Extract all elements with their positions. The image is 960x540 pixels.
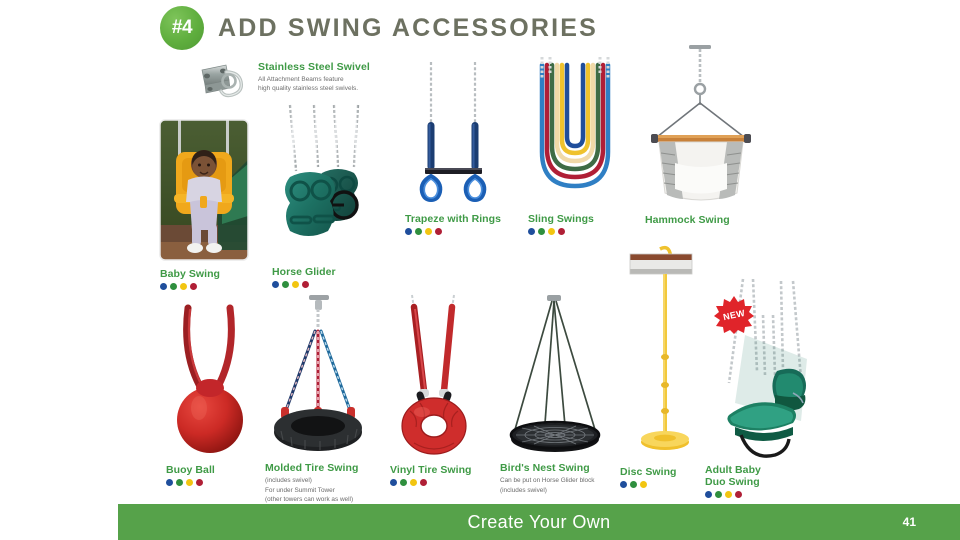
color-dot-yellow	[725, 491, 732, 498]
swivel-subtitle-line-2: high quality stainless steel swivels.	[258, 84, 370, 93]
product-label: Molded Tire Swing	[265, 462, 385, 474]
product-label: Hammock Swing	[645, 214, 760, 226]
color-dot-blue	[405, 228, 412, 235]
product-sling-swings[interactable]: Sling Swings	[528, 57, 633, 235]
birds-nest-swing-art	[500, 295, 620, 458]
product-baby-swing[interactable]: Baby Swing	[160, 120, 260, 290]
color-dot-blue	[160, 283, 167, 290]
color-dot-blue	[390, 479, 397, 486]
color-dot-yellow	[425, 228, 432, 235]
color-dots	[405, 228, 510, 235]
product-molded-tire-swing[interactable]: Molded Tire Swing (includes swivel) For …	[265, 295, 385, 505]
color-dot-red	[735, 491, 742, 498]
product-label: Baby Swing	[160, 268, 260, 280]
product-label: Buoy Ball	[166, 464, 266, 476]
product-trapeze-with-rings[interactable]: Trapeze with Rings	[405, 62, 510, 235]
product-birds-nest-swing[interactable]: Bird's Nest Swing Can be put on Horse Gl…	[500, 295, 620, 495]
product-label: Horse Glider	[272, 266, 382, 278]
color-dot-yellow	[180, 283, 187, 290]
color-dot-green	[282, 281, 289, 288]
product-label: Sling Swings	[528, 213, 633, 225]
color-dot-red	[190, 283, 197, 290]
color-dots	[272, 281, 382, 288]
color-dot-green	[176, 479, 183, 486]
trapeze-with-rings-art	[405, 62, 510, 207]
footer-title: Create Your Own	[467, 512, 610, 533]
step-number-badge: #4	[160, 6, 204, 50]
swivel-title: Stainless Steel Swivel	[258, 61, 370, 73]
product-label: Vinyl Tire Swing	[390, 464, 500, 476]
swivel-subtitle-line-1: All Attachment Beams feature	[258, 75, 370, 84]
color-dots	[390, 479, 500, 486]
color-dot-blue	[528, 228, 535, 235]
product-sublabel: (includes swivel) For under Summit Tower…	[265, 476, 385, 505]
color-dot-red	[435, 228, 442, 235]
buoy-ball-art	[166, 300, 266, 458]
product-label: Bird's Nest Swing	[500, 462, 620, 474]
color-dot-red	[420, 479, 427, 486]
product-vinyl-tire-swing[interactable]: Vinyl Tire Swing	[390, 295, 500, 486]
color-dot-red	[196, 479, 203, 486]
color-dot-green	[400, 479, 407, 486]
product-label: Disc Swing	[620, 466, 715, 478]
swivel-hardware-icon	[196, 58, 250, 102]
color-dot-red	[558, 228, 565, 235]
baby-swing-photo	[160, 120, 260, 260]
horse-glider-art	[272, 105, 382, 260]
hammock-swing-art	[645, 45, 760, 208]
color-dots	[166, 479, 266, 486]
color-dots	[705, 491, 825, 498]
page-number: 41	[903, 515, 916, 529]
color-dot-blue	[272, 281, 279, 288]
color-dot-blue	[620, 481, 627, 488]
page-header: #4 ADD SWING ACCESSORIES	[160, 6, 598, 50]
new-badge: NEW	[713, 295, 755, 335]
product-label: Adult Baby Duo Swing	[705, 464, 825, 488]
color-dot-blue	[166, 479, 173, 486]
product-sublabel: Can be put on Horse Glider block (includ…	[500, 476, 620, 495]
color-dot-green	[538, 228, 545, 235]
product-hammock-swing[interactable]: Hammock Swing	[645, 45, 760, 226]
color-dot-yellow	[410, 479, 417, 486]
product-horse-glider[interactable]: Horse Glider	[272, 105, 382, 288]
disc-swing-art	[620, 245, 715, 460]
color-dot-green	[170, 283, 177, 290]
molded-tire-swing-art	[265, 295, 385, 458]
color-dot-yellow	[292, 281, 299, 288]
color-dot-yellow	[548, 228, 555, 235]
color-dot-yellow	[640, 481, 647, 488]
color-dot-green	[630, 481, 637, 488]
color-dot-blue	[705, 491, 712, 498]
color-dots	[528, 228, 633, 235]
page-title: ADD SWING ACCESSORIES	[218, 14, 598, 43]
product-buoy-ball[interactable]: Buoy Ball	[166, 300, 266, 486]
adult-baby-duo-swing-art: NEW	[705, 275, 825, 460]
color-dots	[620, 481, 715, 488]
color-dot-green	[715, 491, 722, 498]
sling-swings-art	[528, 57, 633, 207]
product-label: Trapeze with Rings	[405, 213, 510, 225]
color-dots	[160, 283, 260, 290]
product-adult-baby-duo-swing[interactable]: NEW Adult Baby Duo Swing	[705, 275, 825, 498]
color-dot-red	[302, 281, 309, 288]
color-dot-yellow	[186, 479, 193, 486]
catalog-page: #4 ADD SWING ACCESSORIES	[0, 0, 960, 540]
vinyl-tire-swing-art	[390, 295, 500, 458]
swivel-subtitle: All Attachment Beams feature high qualit…	[258, 75, 370, 94]
color-dot-green	[415, 228, 422, 235]
page-footer: Create Your Own 41	[118, 504, 960, 540]
product-disc-swing[interactable]: Disc Swing	[620, 245, 715, 488]
